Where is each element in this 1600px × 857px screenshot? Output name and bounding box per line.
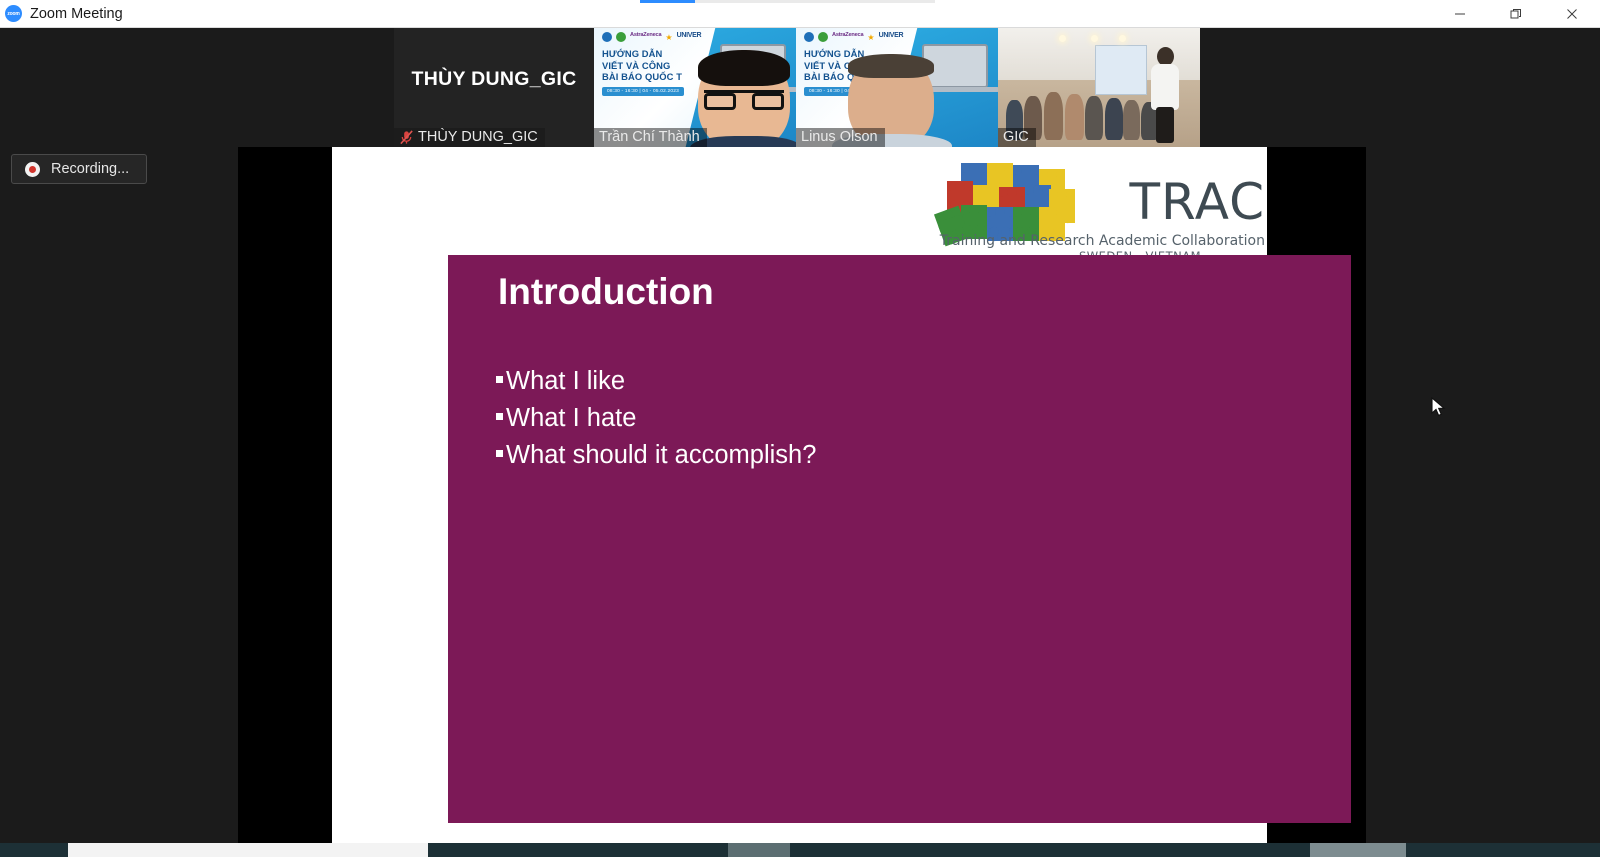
participant-gallery: THÙY DUNG_GIC THÙY DUNG_GIC (394, 28, 1208, 147)
taskbar-segment-highlight[interactable] (728, 843, 790, 857)
bullet-text: What should it accomplish? (506, 437, 816, 474)
participant-name-text: GIC (1003, 129, 1029, 145)
banner-logo-astrazeneca: AstraZeneca (630, 32, 661, 42)
participant-name-text: Linus Olson (801, 129, 878, 145)
list-item: What I hate (496, 400, 816, 437)
microphone-muted-icon (399, 130, 414, 145)
banner-logo-univer: UNIVER (879, 32, 904, 42)
banner-logo-circle-icon (804, 32, 814, 42)
participant-name-text: Trần Chí Thành (599, 129, 700, 145)
shared-screen-area: TRAC Training and Research Academic Coll… (238, 147, 1366, 843)
participant-name-text: THÙY DUNG_GIC (418, 129, 538, 145)
banner-date-text: 08:30 - 16:30 | 04 - 05.02.2023 (602, 87, 684, 96)
recording-indicator[interactable]: Recording... (11, 154, 147, 184)
bullet-text: What I like (506, 363, 625, 400)
minimize-icon[interactable] (1432, 0, 1488, 28)
title-bar: zoom Zoom Meeting (0, 0, 1600, 28)
banner-logo-univer: UNIVER (677, 32, 702, 42)
meeting-stage: Recording... THÙY DUNG_GIC THÙY DUNG_GIC (0, 28, 1600, 843)
trac-tagline: Training and Research Academic Collabora… (940, 233, 1265, 249)
os-taskbar[interactable] (0, 843, 1600, 857)
banner-logos: AstraZeneca ★ UNIVER (804, 32, 929, 42)
participant-name-bar: THÙY DUNG_GIC (394, 128, 545, 147)
participant-display-name: THÙY DUNG_GIC (412, 68, 577, 91)
banner-logo-circle2-icon (616, 32, 626, 42)
window-controls (1432, 0, 1600, 28)
list-item: What I like (496, 363, 816, 400)
trac-logo: TRAC Training and Research Academic Coll… (939, 159, 1265, 264)
participant-face (698, 50, 790, 147)
banner-logos: AstraZeneca ★ UNIVER (602, 32, 727, 42)
window-title: Zoom Meeting (30, 6, 123, 22)
participant-name-bar: GIC (998, 128, 1036, 147)
tab-strip-background (695, 0, 935, 3)
zoom-logo-icon: zoom (5, 5, 22, 22)
participant-name-bar: Trần Chí Thành (594, 128, 707, 147)
participant-tile-gic[interactable]: GIC (998, 28, 1200, 147)
recording-label: Recording... (51, 161, 129, 177)
banner-headline: HƯỚNG DẪN VIẾT VÀ CÔNG BÀI BÁO QUỐC T (602, 48, 682, 83)
bullet-square-icon (496, 376, 503, 383)
banner-logo-circle-icon (602, 32, 612, 42)
slide-bullet-list: What I like What I hate What should it a… (496, 363, 816, 474)
banner-star-icon: ★ (867, 33, 874, 42)
title-bar-left: zoom Zoom Meeting (0, 5, 123, 22)
taskbar-segment (790, 843, 1310, 857)
slide-title: Introduction (498, 271, 714, 313)
banner-logo-astrazeneca: AstraZeneca (832, 32, 863, 42)
taskbar-segment-highlight[interactable] (1310, 843, 1406, 857)
participant-tile-tran-chi-thanh[interactable]: AstraZeneca ★ UNIVER HƯỚNG DẪN VIẾT VÀ C… (594, 28, 796, 147)
close-icon[interactable] (1544, 0, 1600, 28)
banner-star-icon: ★ (665, 33, 672, 42)
bullet-square-icon (496, 413, 503, 420)
presentation-slide: TRAC Training and Research Academic Coll… (332, 147, 1267, 843)
bullet-text: What I hate (506, 400, 636, 437)
restore-icon[interactable] (1488, 0, 1544, 28)
trac-wordmark: TRAC (1130, 173, 1266, 231)
participant-tile-thuy-dung[interactable]: THÙY DUNG_GIC THÙY DUNG_GIC (394, 28, 594, 147)
record-dot-icon (25, 162, 40, 177)
bullet-square-icon (496, 450, 503, 457)
taskbar-segment (1406, 843, 1600, 857)
taskbar-segment (428, 843, 728, 857)
zoom-meeting-window: zoom Zoom Meeting (0, 0, 1600, 857)
list-item: What should it accomplish? (496, 437, 816, 474)
taskbar-active-window[interactable] (68, 843, 428, 857)
presenter-figure (1150, 47, 1180, 143)
banner-logo-circle2-icon (818, 32, 828, 42)
active-tab-indicator (640, 0, 695, 3)
slide-content-block: Introduction What I like What I hate (448, 255, 1351, 823)
participant-tile-linus-olson[interactable]: AstraZeneca ★ UNIVER HƯỚNG DẪN VIẾT VÀ C… (796, 28, 998, 147)
taskbar-segment (0, 843, 68, 857)
mouse-cursor (1431, 397, 1447, 417)
participant-name-bar: Linus Olson (796, 128, 885, 147)
